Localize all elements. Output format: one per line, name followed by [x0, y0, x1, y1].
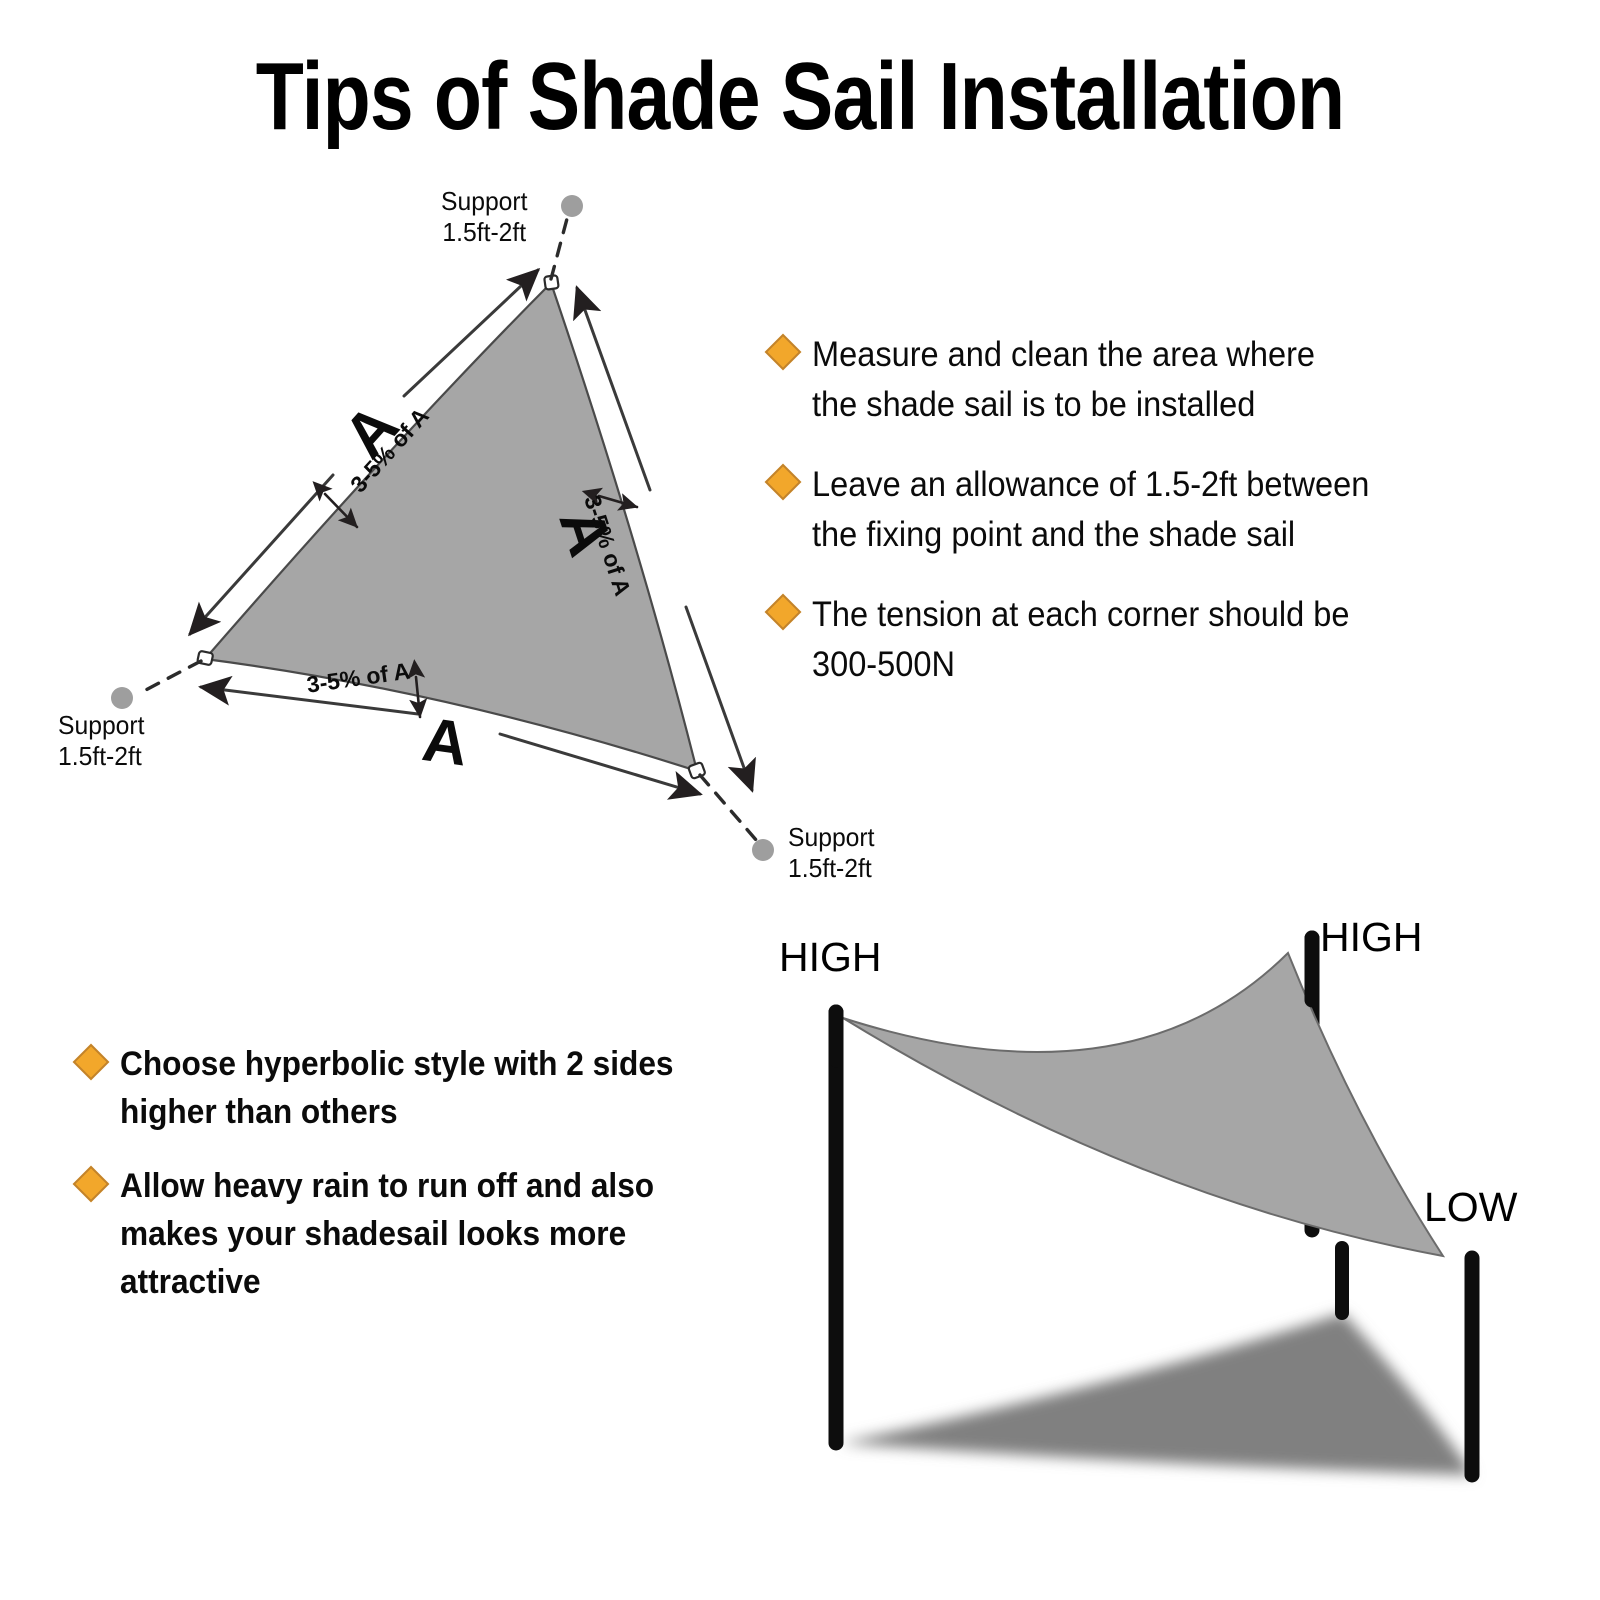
posts-group: [836, 938, 1472, 1475]
list-item: The tension at each corner should be 300…: [770, 590, 1530, 690]
support-label-left: Support 1.5ft-2ft: [58, 710, 145, 772]
tips-list-left: Choose hyperbolic style with 2 sides hig…: [78, 1040, 778, 1332]
diamond-bullet-icon: [765, 594, 802, 631]
list-item: Choose hyperbolic style with 2 sides hig…: [78, 1040, 778, 1136]
post-label-high-right: HIGH: [1320, 915, 1423, 959]
list-item: Measure and clean the area where the sha…: [770, 330, 1530, 430]
support-dot-right: [752, 839, 774, 861]
list-item-text: The tension at each corner should be 300…: [812, 590, 1349, 690]
edge-length-label-bottom: A: [418, 704, 472, 781]
list-item-text: Leave an allowance of 1.5-2ft between th…: [812, 460, 1369, 560]
list-item-text: Measure and clean the area where the sha…: [812, 330, 1315, 430]
sag-arrow-edge-bottom: [416, 677, 420, 717]
list-item: Allow heavy rain to run off and also mak…: [78, 1162, 778, 1306]
sag-arrow-edge-left: [325, 494, 357, 527]
diamond-bullet-icon: [73, 1044, 110, 1081]
corner-fitting-top: [544, 275, 559, 290]
list-item: Leave an allowance of 1.5-2ft between th…: [770, 460, 1530, 560]
triangle-diagram-canvas: [0, 0, 1600, 1600]
post-caps-group: [836, 938, 1312, 1060]
sail-membrane-triangle: [205, 283, 697, 771]
list-item-text: Allow heavy rain to run off and also mak…: [120, 1162, 654, 1306]
diamond-bullet-icon: [765, 334, 802, 371]
corner-fitting-right: [688, 762, 706, 779]
diamond-bullet-icon: [765, 464, 802, 501]
page-title: Tips of Shade Sail Installation: [144, 42, 1456, 152]
hyperbolic-sail-membrane: [843, 953, 1443, 1256]
list-item-text: Choose hyperbolic style with 2 sides hig…: [120, 1040, 674, 1136]
edge-curve-label-bottom: 3-5% of A: [305, 658, 412, 699]
support-label-right: Support 1.5ft-2ft: [788, 822, 875, 884]
post-label-high-left: HIGH: [779, 935, 882, 979]
corner-fitting-left: [197, 651, 213, 666]
diamond-bullet-icon: [73, 1166, 110, 1203]
support-dot-top: [561, 195, 583, 217]
sail-ground-shadow: [840, 1313, 1473, 1475]
infographic-page: Tips of Shade Sail Installation: [0, 0, 1600, 1600]
hyperbolic-diagram-canvas: [0, 0, 1600, 1600]
tips-list-right: Measure and clean the area where the sha…: [770, 330, 1530, 720]
support-dot-left: [111, 687, 133, 709]
support-label-top: Support 1.5ft-2ft: [441, 186, 528, 248]
post-label-low: LOW: [1424, 1185, 1517, 1229]
